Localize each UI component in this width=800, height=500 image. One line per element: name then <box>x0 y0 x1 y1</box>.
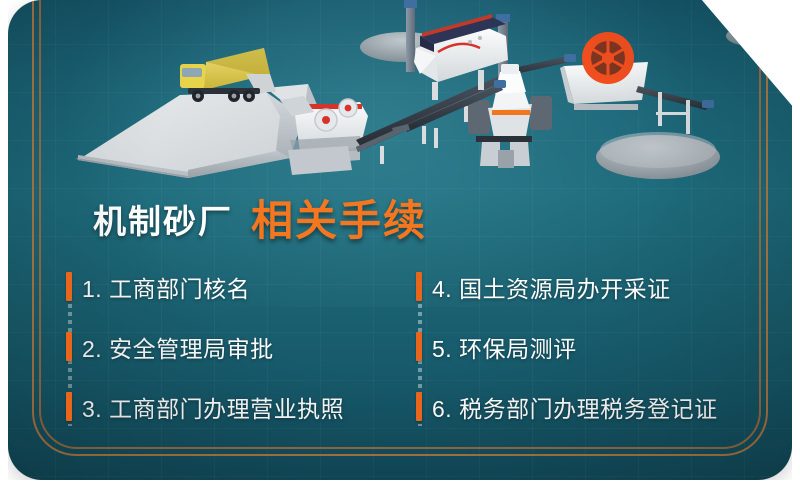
list-item-label: 5. 环保局测评 <box>432 330 577 364</box>
teal-background-panel: 机制砂厂 相关手续 1. 工商部门核名 2. 安全管理局审批 3. 工商部门办理… <box>8 0 792 480</box>
headline-white-text: 机制砂厂 <box>93 205 233 238</box>
list-item[interactable]: 6. 税务部门办理税务登记证 <box>416 392 756 421</box>
list-item-label: 4. 国土资源局办开采证 <box>432 270 671 304</box>
sand-wheel <box>582 32 634 84</box>
belt-conveyor-washer-out <box>636 86 714 134</box>
list-item[interactable]: 1. 工商部门核名 <box>66 272 416 301</box>
bullet-bar-icon <box>416 332 422 361</box>
list-item[interactable]: 4. 国土资源局办开采证 <box>416 272 756 301</box>
production-line-svg <box>8 0 792 210</box>
flywheel-right <box>345 105 352 112</box>
list-item[interactable]: 2. 安全管理局审批 <box>66 332 416 361</box>
poster-canvas: 机制砂厂 相关手续 1. 工商部门核名 2. 安全管理局审批 3. 工商部门办理… <box>0 0 800 500</box>
list-item[interactable]: 5. 环保局测评 <box>416 332 756 361</box>
bullet-bar-icon <box>66 332 72 361</box>
gravel-pile-far <box>726 26 778 46</box>
production-line-illustration <box>8 0 792 210</box>
sand-washer <box>560 32 648 110</box>
procedure-list-right-column: 4. 国土资源局办开采证 5. 环保局测评 6. 税务部门办理税务登记证 <box>416 272 756 421</box>
vsi-orange-band <box>492 110 530 115</box>
flywheel-left <box>322 116 330 124</box>
bullet-bar-icon <box>416 392 422 421</box>
headline-orange-text: 相关手续 <box>251 200 427 242</box>
list-item[interactable]: 3. 工商部门办理营业执照 <box>66 392 416 421</box>
procedure-list: 1. 工商部门核名 2. 安全管理局审批 3. 工商部门办理营业执照 4. 国土… <box>66 272 756 421</box>
list-item-label: 1. 工商部门核名 <box>82 270 250 304</box>
list-item-label: 6. 税务部门办理税务登记证 <box>432 390 718 424</box>
list-item-label: 3. 工商部门办理营业执照 <box>82 390 344 424</box>
bullet-bar-icon <box>66 272 72 301</box>
bullet-bar-icon <box>66 392 72 421</box>
procedure-list-left-column: 1. 工商部门核名 2. 安全管理局审批 3. 工商部门办理营业执照 <box>66 272 416 421</box>
list-item-label: 2. 安全管理局审批 <box>82 330 274 364</box>
bullet-bar-icon <box>416 272 422 301</box>
headline: 机制砂厂 相关手续 <box>93 196 427 238</box>
